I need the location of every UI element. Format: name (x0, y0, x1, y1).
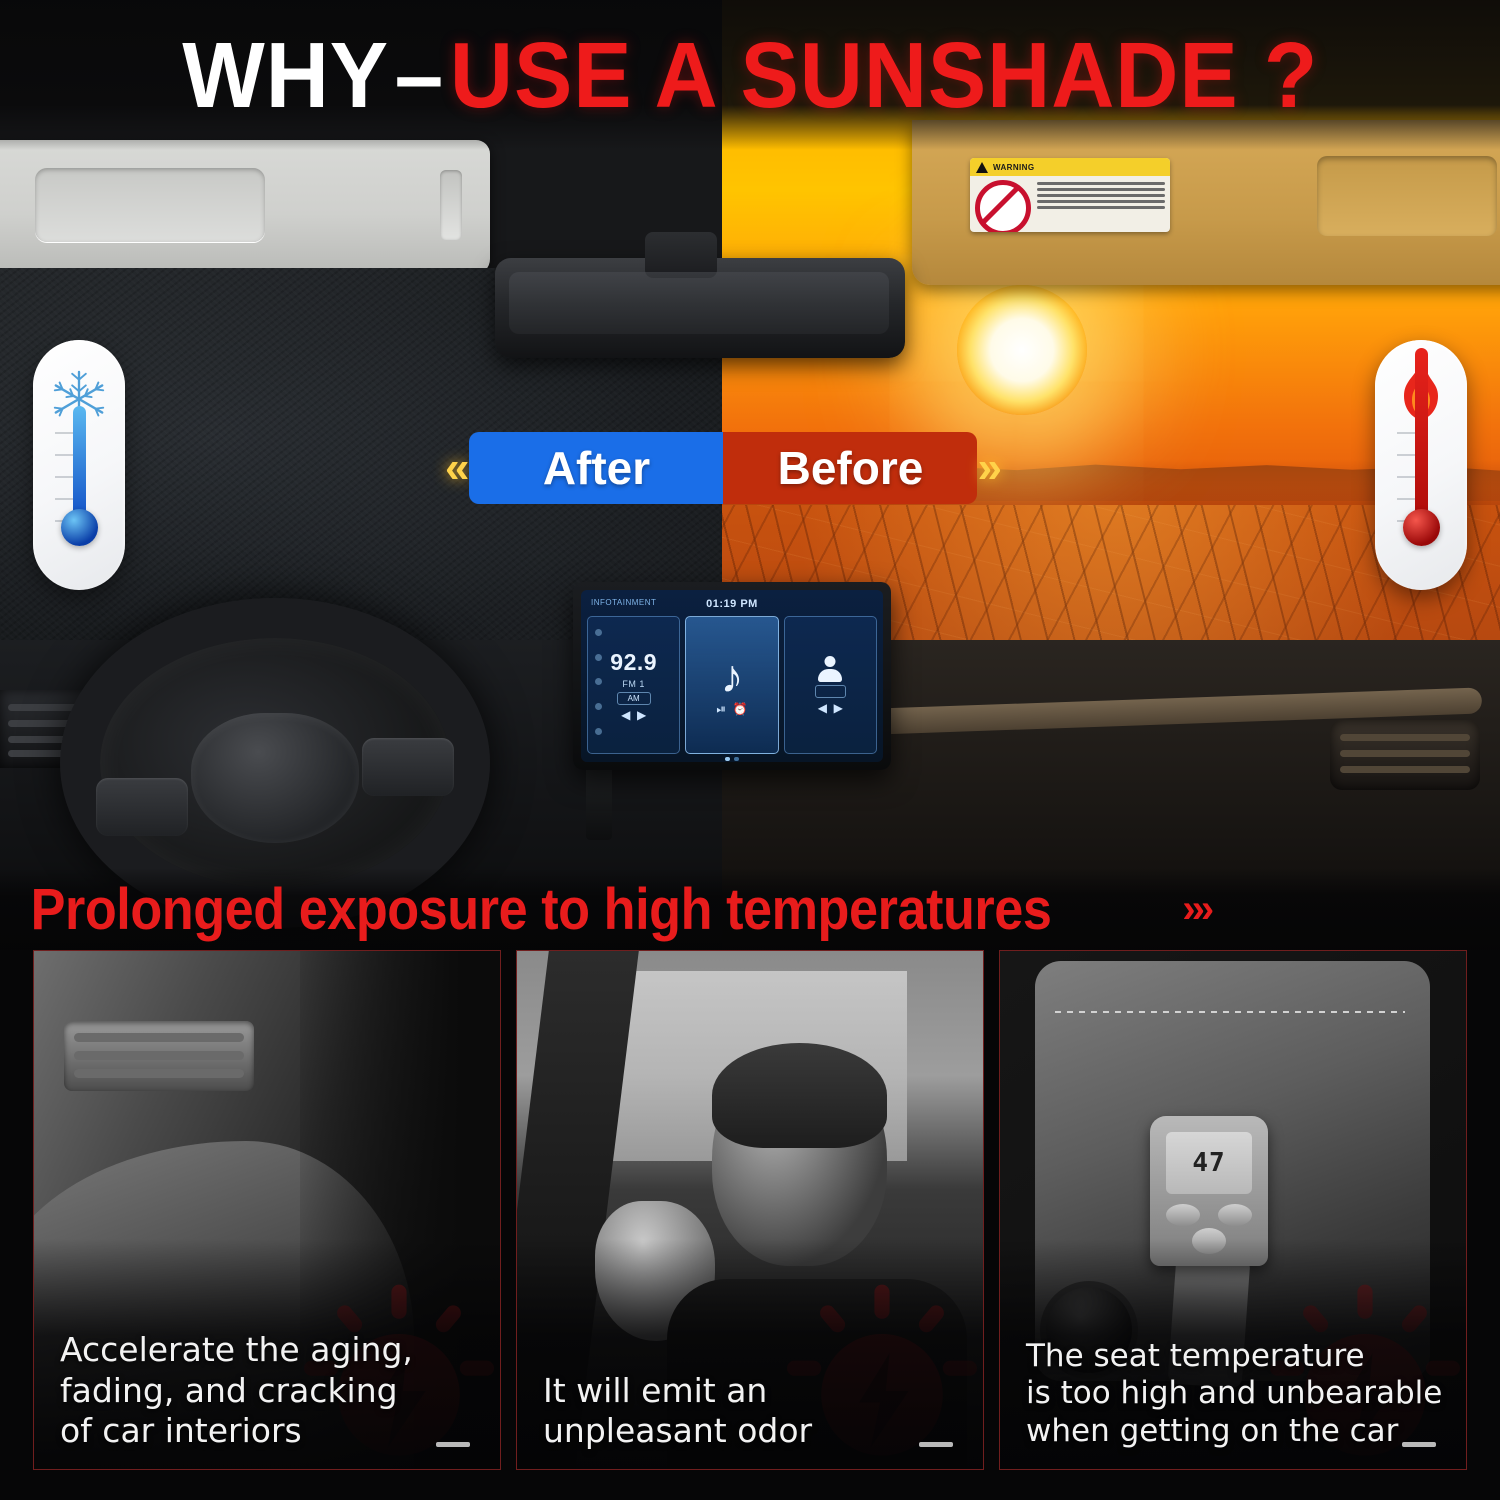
man-hair (712, 1043, 887, 1148)
hot-bulb (1403, 509, 1440, 546)
visor-clip (440, 170, 462, 240)
air-vent-right (1330, 720, 1480, 790)
media-transport-controls[interactable]: ⏯ ⏰ (716, 702, 747, 717)
thermometer-display: 47 (1166, 1132, 1252, 1194)
panel-seat-temperature: 47 The seat temperat (999, 950, 1467, 1470)
panel-interior-aging: Accelerate the aging, fading, and cracki… (33, 950, 501, 1470)
title-word-highlight: USE A SUNSHADE ? (450, 23, 1318, 127)
head-unit-screen[interactable]: INFOTAINMENT 01:19 PM 92.9 FM 1 AM ◀ ▶ ♪… (581, 590, 883, 762)
panel-2-caption: It will emit an unpleasant odor (543, 1371, 963, 1452)
mid-banner: Prolonged exposure to high temperatures … (0, 868, 1500, 950)
head-unit-side-buttons[interactable] (589, 620, 607, 744)
panel-3-caption: The seat temperature is too high and unb… (1026, 1338, 1446, 1451)
panel-3-underscore (1402, 1442, 1436, 1447)
visor-pocket (1317, 156, 1497, 236)
panel-2-underscore (919, 1442, 953, 1447)
warning-text-lines (1037, 180, 1165, 232)
before-after-toggle[interactable]: « After Before » (445, 432, 1002, 504)
panel-1-caption: Accelerate the aging, fading, and cracki… (60, 1330, 480, 1451)
head-unit-clock: 01:19 PM (706, 598, 758, 610)
warning-heading: WARNING (993, 163, 1034, 172)
thermometer-button-left[interactable] (1166, 1204, 1200, 1226)
page-title: WHY–USE A SUNSHADE ? (182, 22, 1318, 129)
cold-thermometer (33, 340, 125, 590)
before-label[interactable]: Before (723, 432, 977, 504)
mid-banner-text: Prolonged exposure to high temperatures (0, 876, 1051, 943)
no-child-seat-icon (975, 180, 1031, 232)
visor-recess (35, 168, 265, 242)
steering-wheel-hub (191, 713, 359, 843)
rearview-mirror (495, 258, 905, 358)
after-label[interactable]: After (469, 432, 723, 504)
thermometer-button-right[interactable] (1218, 1204, 1252, 1226)
title-word-why: WHY (182, 23, 389, 127)
head-unit-brand: INFOTAINMENT (591, 598, 656, 607)
cold-mercury-fill (73, 406, 86, 516)
product-infographic: WARNING (0, 0, 1500, 1500)
head-unit-cards: 92.9 FM 1 AM ◀ ▶ ♪ ⏯ ⏰ ◀ (587, 616, 877, 754)
airbag-warning-label: WARNING (970, 158, 1170, 232)
right-chevron-icon: » (977, 446, 1001, 490)
cold-bulb (61, 509, 98, 546)
radio-frequency: 92.9 (610, 649, 657, 676)
page-indicator-dots (587, 757, 877, 761)
mirror-glass (509, 272, 889, 334)
hot-thermometer (1375, 340, 1467, 590)
steering-controls-left (96, 778, 188, 836)
warning-bar: WARNING (970, 158, 1170, 176)
seat-stitching (1055, 1011, 1405, 1013)
person-icon (818, 656, 842, 682)
radio-preset-chip[interactable]: AM (617, 692, 651, 705)
music-note-icon: ♪ (720, 653, 743, 699)
infotainment-head-unit[interactable]: INFOTAINMENT 01:19 PM 92.9 FM 1 AM ◀ ▶ ♪… (573, 582, 891, 770)
profile-card[interactable]: ◀ ▶ (784, 616, 877, 754)
warning-body (970, 176, 1170, 232)
head-unit-mount (586, 760, 612, 840)
dash-vent (64, 1021, 254, 1091)
title-dash: – (389, 23, 450, 127)
headline-band: WHY–USE A SUNSHADE ? (0, 0, 1500, 150)
profile-chip[interactable] (815, 685, 846, 698)
panel-unpleasant-odor: It will emit an unpleasant odor (516, 950, 984, 1470)
radio-band: FM 1 (622, 679, 645, 689)
consequence-panels: Accelerate the aging, fading, and cracki… (0, 950, 1500, 1500)
hot-mercury-fill (1415, 348, 1428, 516)
before-after-hero: WARNING (0, 0, 1500, 950)
panel-1-underscore (436, 1442, 470, 1447)
profile-arrows[interactable]: ◀ ▶ (818, 701, 843, 715)
left-chevron-icon: « (445, 446, 469, 490)
sun-visor-left (0, 140, 490, 275)
mid-banner-chevrons: ››› (1182, 887, 1210, 932)
sun-icon (957, 285, 1087, 415)
steering-controls-right (362, 738, 454, 796)
radio-tune-arrows[interactable]: ◀ ▶ (621, 708, 646, 722)
measured-temperature: 47 (1192, 1148, 1225, 1178)
media-card[interactable]: ♪ ⏯ ⏰ (685, 616, 778, 754)
head-unit-statusbar: INFOTAINMENT 01:19 PM (587, 596, 877, 612)
warning-triangle-icon (976, 162, 988, 173)
